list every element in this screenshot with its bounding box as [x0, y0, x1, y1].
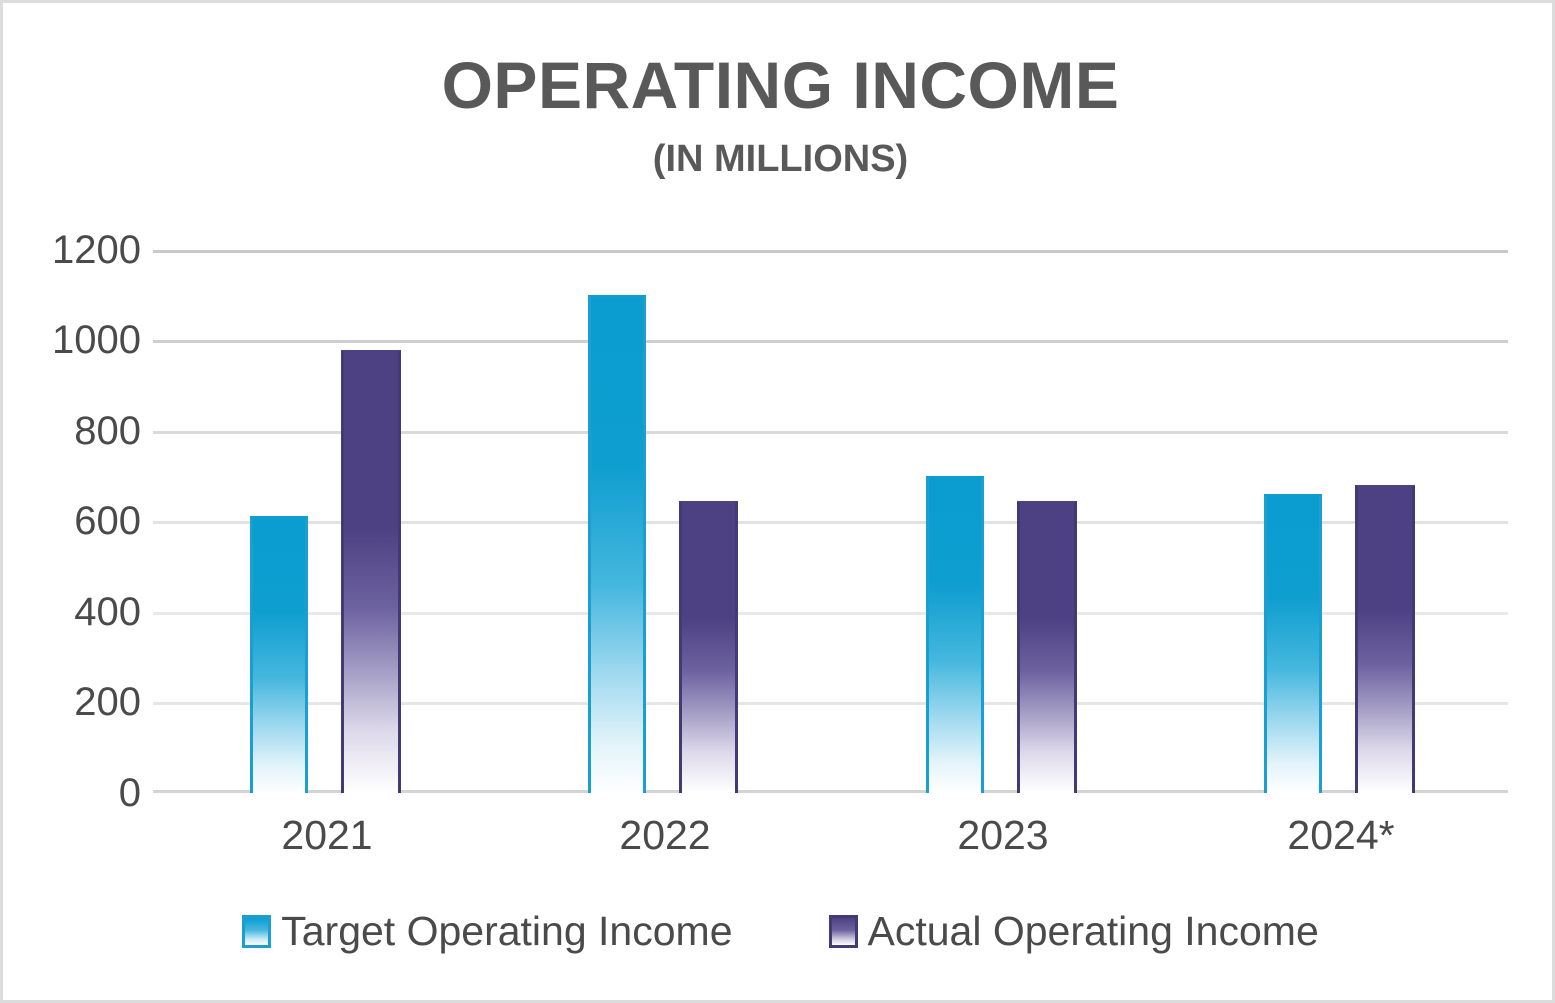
chart-canvas: OPERATING INCOME (IN MILLIONS) 1200 1000…	[0, 0, 1555, 1003]
y-axis-tick-400: 400	[21, 592, 141, 632]
bar-target-2024[interactable]	[1264, 494, 1322, 793]
actual-swatch-icon	[829, 915, 858, 948]
legend-item-actual[interactable]: Actual Operating Income	[829, 911, 1319, 952]
x-axis-tick-2021: 2021	[217, 815, 437, 856]
legend-item-target[interactable]: Target Operating Income	[242, 911, 732, 952]
x-axis-tick-2024: 2024*	[1231, 815, 1451, 856]
chart-legend: Target Operating Income Actual Operating…	[3, 911, 1555, 952]
bar-actual-2023[interactable]	[1017, 501, 1077, 793]
legend-label-actual: Actual Operating Income	[868, 911, 1319, 952]
y-axis-tick-1000: 1000	[21, 320, 141, 360]
target-swatch-icon	[242, 915, 271, 948]
gridline-1000	[153, 340, 1508, 343]
bar-target-2023[interactable]	[926, 476, 984, 793]
chart-title: OPERATING INCOME	[3, 51, 1555, 120]
bar-target-2021[interactable]	[250, 516, 308, 793]
chart-subtitle: (IN MILLIONS)	[3, 140, 1555, 180]
legend-label-target: Target Operating Income	[281, 911, 732, 952]
y-axis-tick-0: 0	[21, 773, 141, 813]
gridline-1200	[153, 250, 1508, 253]
plot-area	[153, 250, 1508, 793]
y-axis-tick-1200: 1200	[21, 230, 141, 270]
bar-actual-2022[interactable]	[679, 501, 738, 793]
bar-actual-2024[interactable]	[1355, 485, 1415, 793]
bar-actual-2021[interactable]	[341, 350, 401, 793]
y-axis-tick-600: 600	[21, 501, 141, 541]
y-axis-tick-200: 200	[21, 682, 141, 722]
bar-target-2022[interactable]	[588, 295, 646, 793]
x-axis-tick-2022: 2022	[555, 815, 775, 856]
y-axis-tick-800: 800	[21, 411, 141, 451]
x-axis-tick-2023: 2023	[893, 815, 1113, 856]
